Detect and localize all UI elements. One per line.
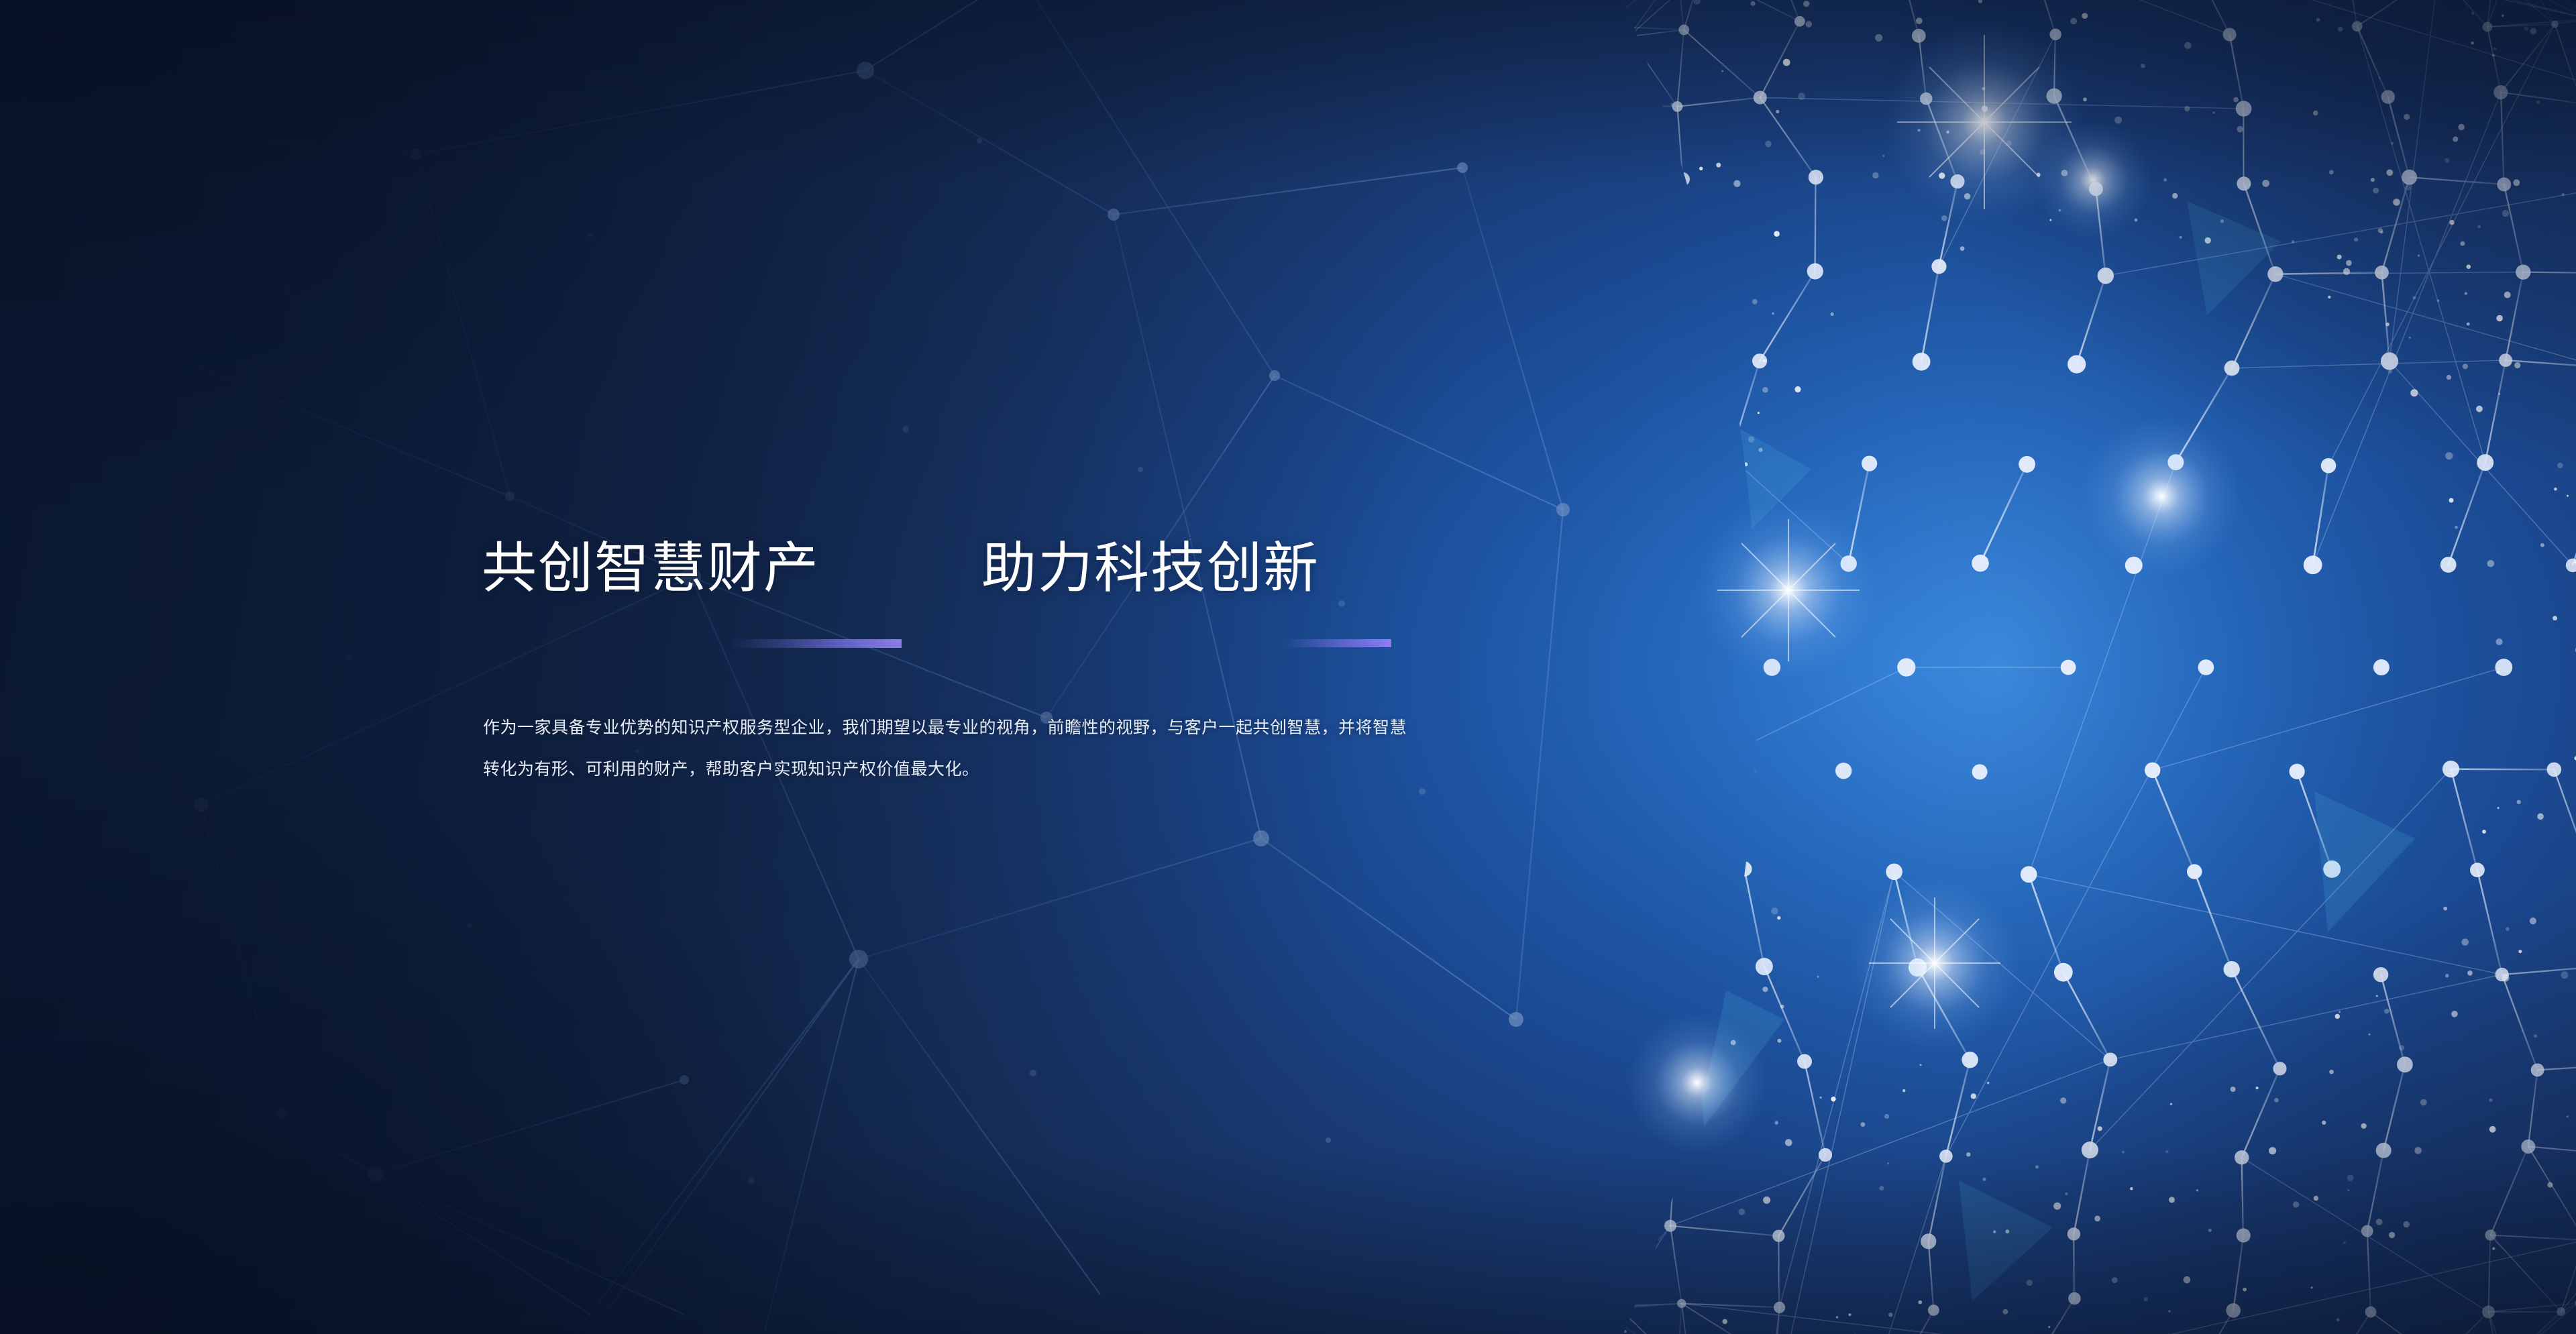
hero-copy-block: 共创智慧财产 助力科技创新 作为一家具备专业优势的知识产权服务型企业，我们期望以…	[482, 537, 1434, 617]
hero-banner: 共创智慧财产 助力科技创新 作为一家具备专业优势的知识产权服务型企业，我们期望以…	[0, 0, 2576, 1334]
headline-part-two: 助力科技创新	[981, 537, 1320, 601]
page-title: 共创智慧财产 助力科技创新	[482, 537, 1434, 617]
accent-underline-one	[732, 639, 902, 648]
headline-part-one: 共创智慧财产	[482, 537, 820, 601]
hero-description-text: 作为一家具备专业优势的知识产权服务型企业，我们期望以最专业的视角，前瞻性的视野，…	[483, 707, 1422, 790]
corner-vignette	[0, 0, 2576, 1334]
accent-underline-two	[1284, 639, 1391, 647]
hero-description: 作为一家具备专业优势的知识产权服务型企业，我们期望以最专业的视角，前瞻性的视野，…	[483, 707, 1422, 790]
